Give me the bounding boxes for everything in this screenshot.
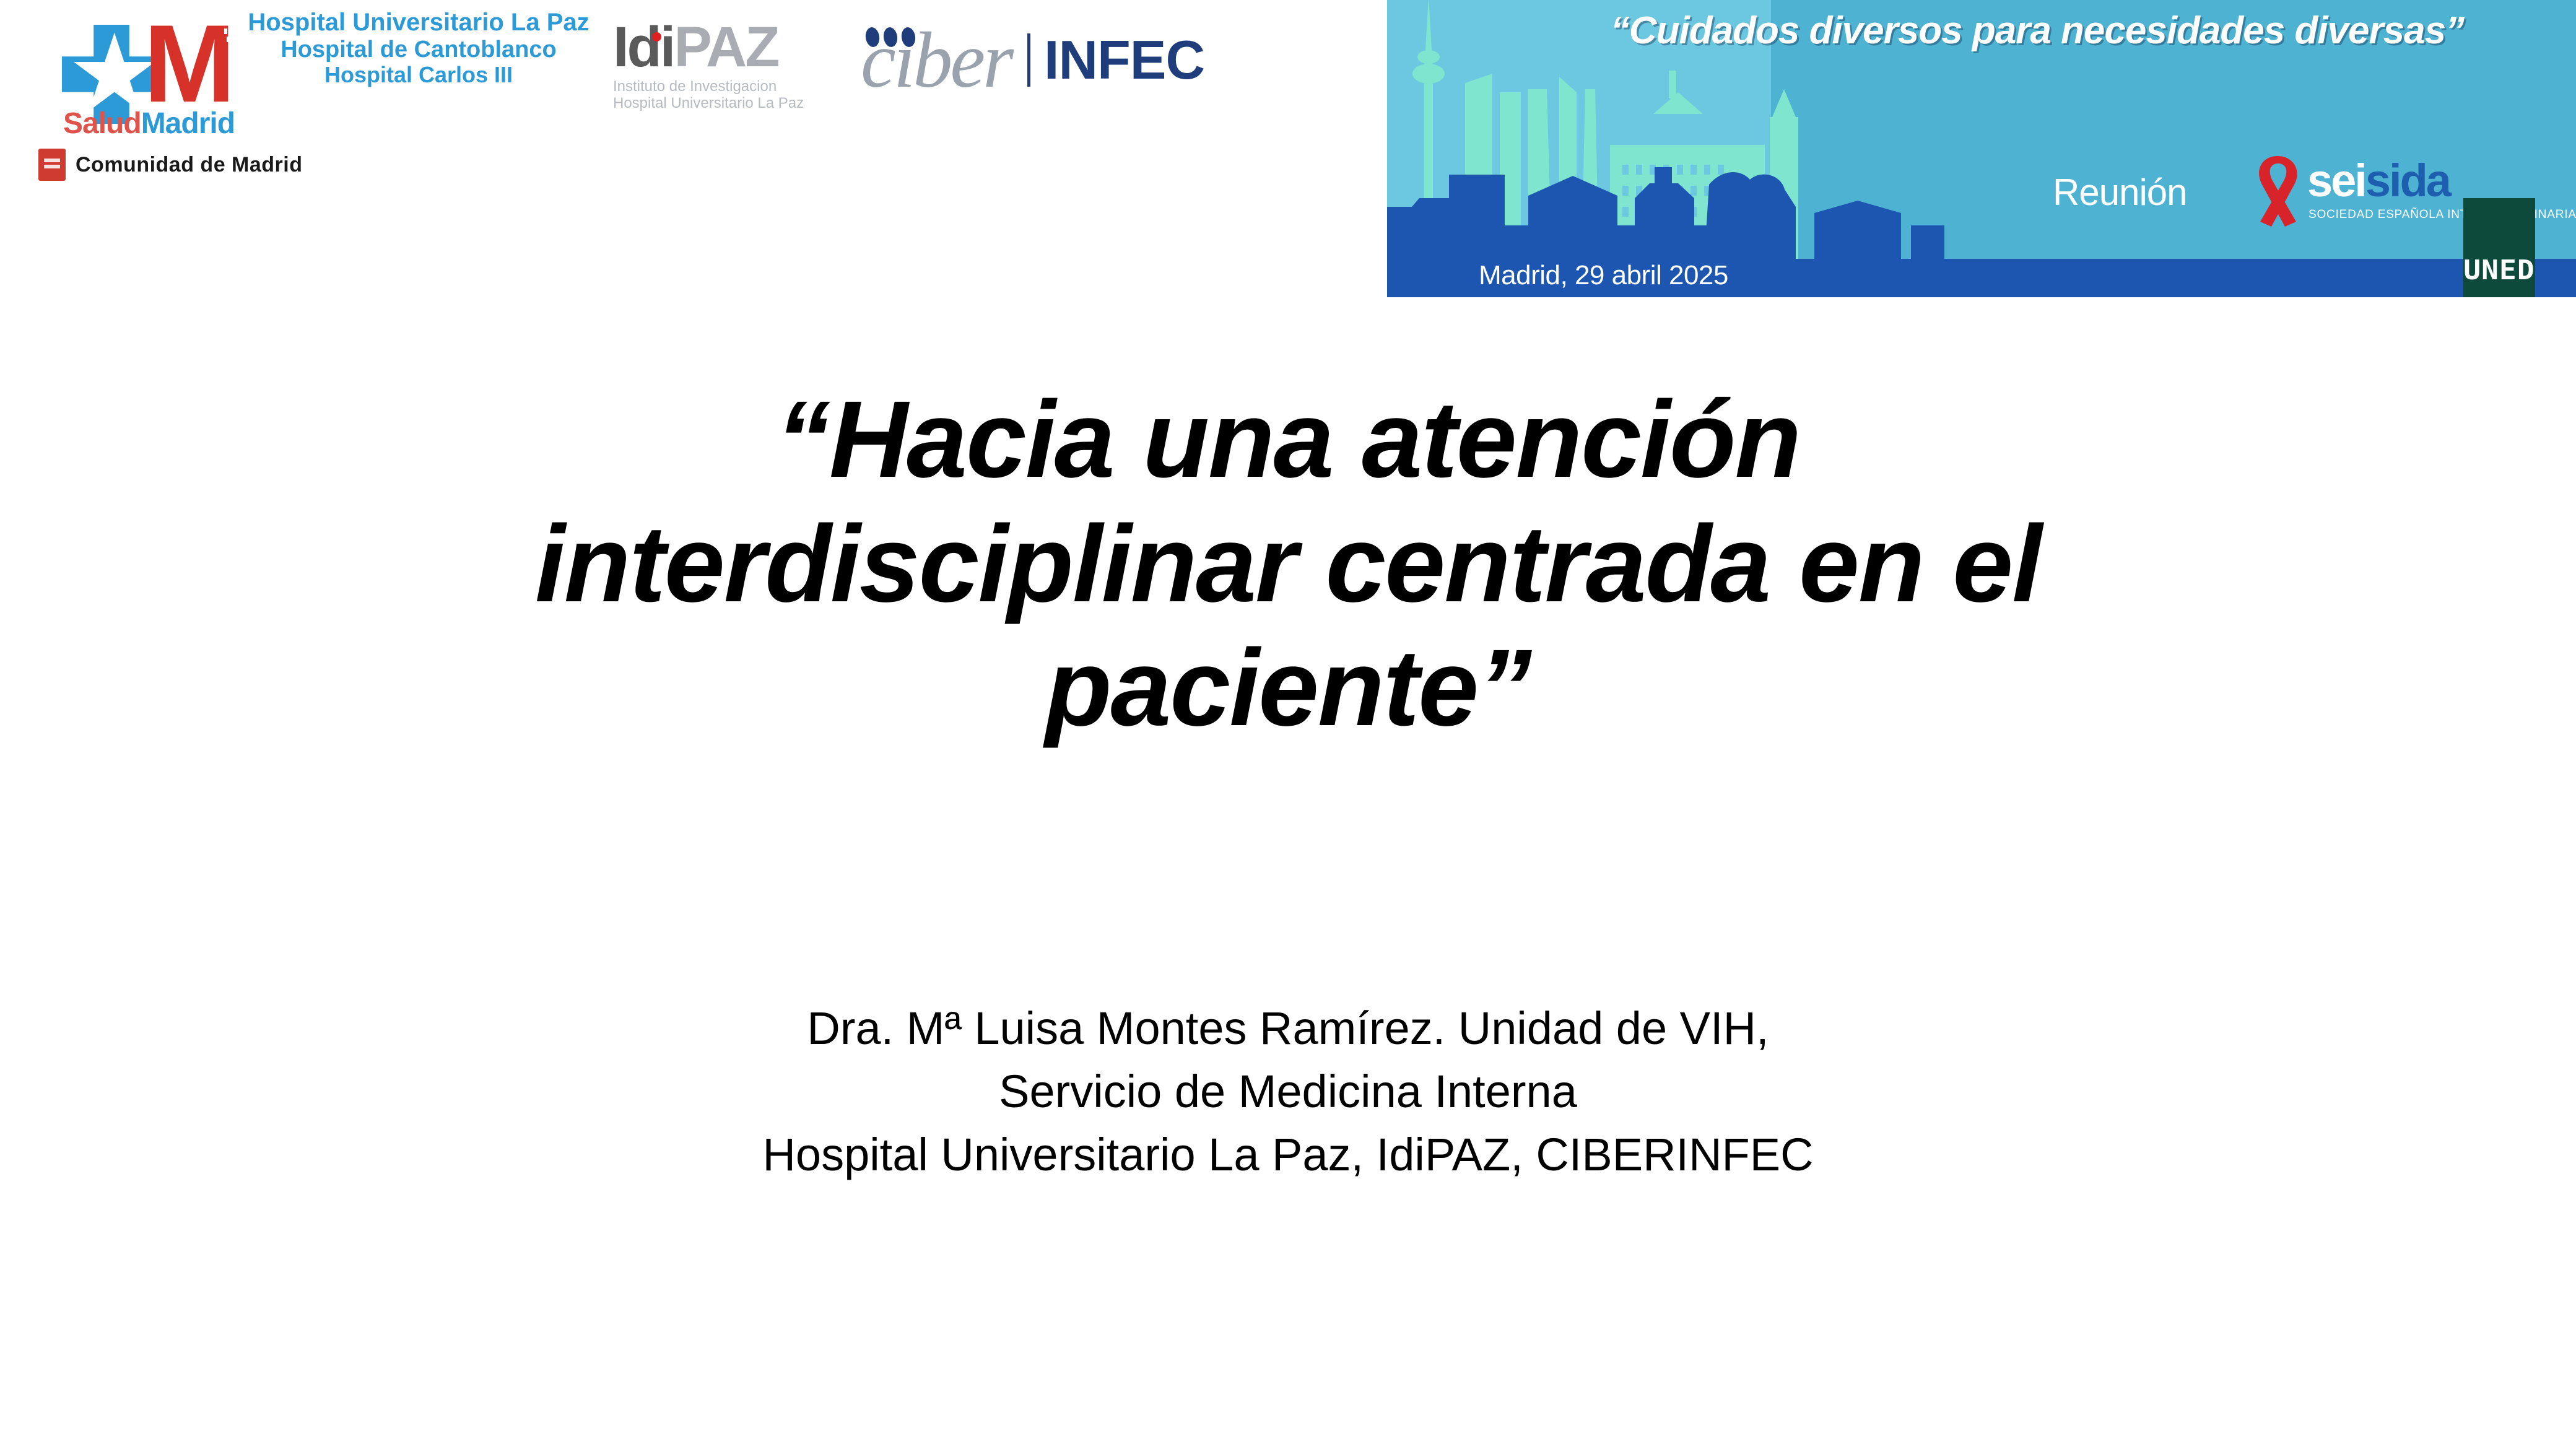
hospital-name-line-1: Hospital Universitario La Paz — [245, 9, 592, 37]
salud-madrid-logo: M SaludMadrid — [37, 11, 241, 138]
banner-reunion-label: Reunión — [2053, 171, 2187, 214]
uned-logo: UNED — [2463, 198, 2535, 297]
seisida-part-sei: sei — [2307, 155, 2365, 206]
aids-ribbon-icon — [2248, 152, 2307, 237]
ciber-infec-logo: ciber INFEC — [861, 14, 1204, 107]
hospital-name-line-3: Hospital Carlos III — [245, 63, 592, 87]
page-title: “Hacia una atención interdisciplinar cen… — [223, 378, 2353, 751]
ciber-dots-icon — [866, 27, 915, 47]
author-line-2: Servicio de Medicina Interna — [409, 1060, 2167, 1123]
event-banner: “Cuidados diversos para necesidades dive… — [1387, 0, 2576, 297]
salud-madrid-wordmark: SaludMadrid — [63, 109, 235, 139]
idipaz-logo: IdiPAZ Instituto de Investigacion Hospit… — [613, 19, 836, 111]
banner-place-date: Madrid, 29 abril 2025 — [1479, 260, 1728, 291]
comunidad-madrid-label: Comunidad de Madrid — [76, 153, 303, 177]
madrid-stars-icon — [224, 28, 245, 45]
idipaz-mark-grey: PAZ — [674, 15, 778, 79]
author-line-1: Dra. Mª Luisa Montes Ramírez. Unidad de … — [409, 997, 2167, 1060]
uned-text: UNED — [2463, 255, 2535, 286]
seisida-part-sida: sida — [2365, 155, 2450, 206]
idipaz-subtitle-line-2: Hospital Universitario La Paz — [613, 95, 836, 111]
logo-bar: M SaludMadrid Hospital Universitario La … — [0, 0, 1387, 297]
hospital-name-line-2: Hospital de Cantoblanco — [245, 37, 592, 63]
madrid-shield-icon — [38, 149, 66, 181]
ciber-wordmark: ciber — [861, 24, 1011, 97]
comunidad-madrid-logo: Comunidad de Madrid — [38, 149, 303, 181]
hospital-names-block: Hospital Universitario La Paz Hospital d… — [245, 9, 592, 88]
author-affiliation-block: Dra. Mª Luisa Montes Ramírez. Unidad de … — [409, 997, 2167, 1186]
ciber-divider — [1027, 33, 1030, 87]
banner-dark-ground — [1387, 225, 1734, 263]
idipaz-subtitle-line-1: Instituto de Investigacion — [613, 78, 836, 95]
title-line-2: interdisciplinar centrada en el — [223, 502, 2353, 627]
salud-madrid-letter-m: M — [144, 17, 230, 110]
banner-tagline: “Cuidados diversos para necesidades dive… — [1523, 9, 2551, 53]
title-line-1: “Hacia una atención — [223, 378, 2353, 502]
idipaz-red-dot-icon — [652, 32, 661, 41]
idipaz-mark-dark: Idi — [613, 15, 674, 79]
idipaz-subtitle: Instituto de Investigacion Hospital Univ… — [613, 78, 836, 111]
seisida-subtitle: SOCIEDAD ESPAÑOLA INTERDISCIPLINARIA DEL… — [2308, 208, 2576, 222]
author-line-3: Hospital Universitario La Paz, IdiPAZ, C… — [409, 1123, 2167, 1186]
infec-text: INFEC — [1044, 33, 1204, 87]
wordmark-salud: Salud — [63, 107, 141, 140]
seisida-wordmark: seisida — [2307, 159, 2450, 203]
wordmark-madrid: Madrid — [141, 107, 235, 140]
title-line-3: paciente” — [223, 626, 2353, 751]
idipaz-wordmark: IdiPAZ — [613, 19, 836, 76]
